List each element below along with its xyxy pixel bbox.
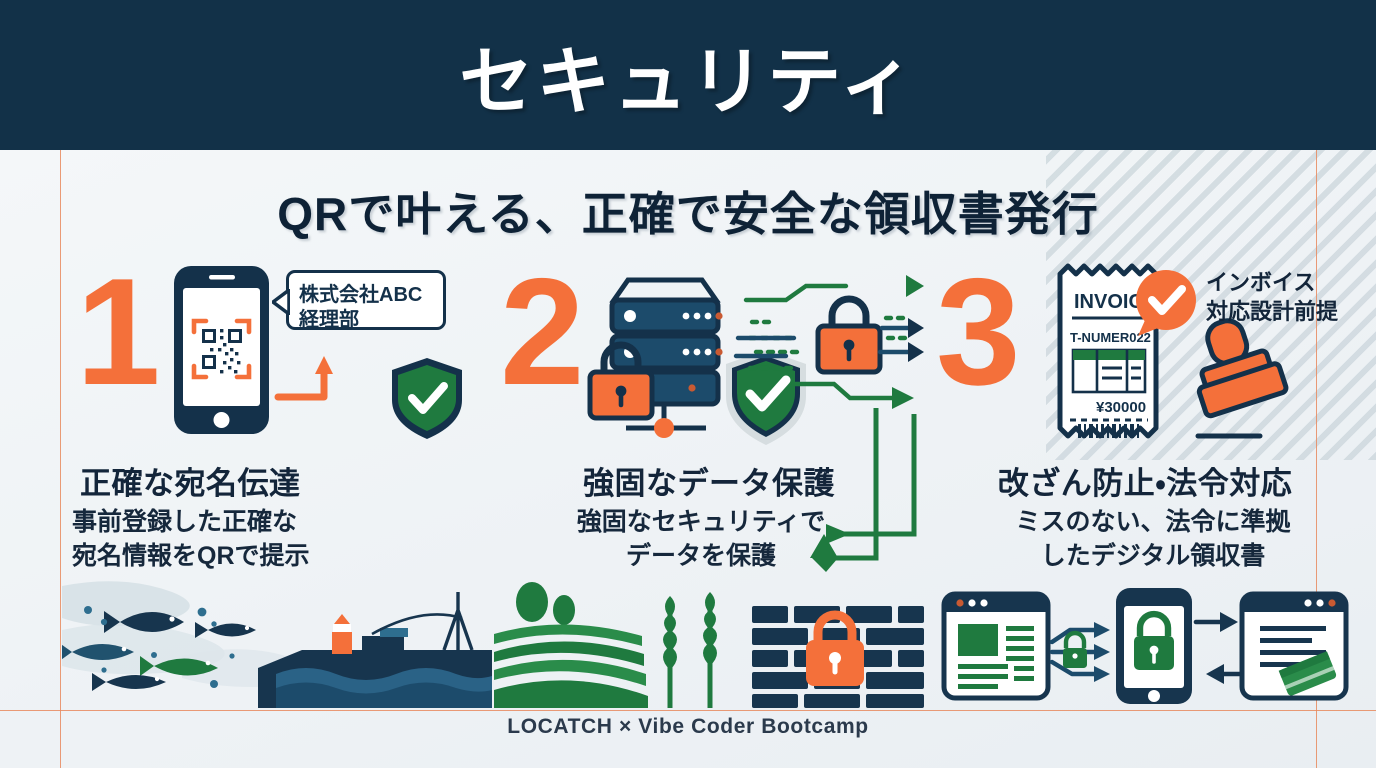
invoice-badge-line-2: 対応設計前提 <box>1206 297 1366 326</box>
step-heading-1: 正確な宛名伝達 <box>80 458 510 503</box>
invoice-badge-label: インボイス 対応設計前提 <box>1206 268 1366 326</box>
header-banner: セキュリティ <box>0 0 1376 150</box>
step-column-3: 3 INVOICE T-NUMER022 ¥30000 <box>930 260 1360 710</box>
body-area: QRで叶える、正確で安全な領収書発行 1 <box>0 150 1376 768</box>
farm-brickwall-scene <box>494 578 924 708</box>
green-routing-pipe <box>764 408 944 598</box>
callout-tail-icon <box>272 289 290 315</box>
invoice-badge-line-1: インボイス <box>1206 268 1366 297</box>
step-body-1: 事前登録した正確な 宛名情報をQRで提示 <box>72 505 502 573</box>
step-body-3-line-1: ミスのない、法令に準拠 <box>938 505 1368 539</box>
step-column-2: 2 <box>494 260 924 710</box>
callout-bubble: 株式会社ABC 経理部 <box>286 270 446 330</box>
footer-text: LOCATCH × Vibe Coder Bootcamp <box>0 715 1376 739</box>
subtitle: QRで叶える、正確で安全な領収書発行 <box>0 178 1376 244</box>
infographic-slide: セキュリティ QRで叶える、正確で安全な領収書発行 1 <box>0 0 1376 768</box>
guide-line-bottom <box>0 710 1376 711</box>
step-body-3-line-2: したデジタル領収書 <box>938 539 1368 573</box>
step-body-1-line-2: 宛名情報をQRで提示 <box>72 539 502 573</box>
callout-line-2: 経理部 <box>299 303 359 332</box>
sea-fish-lighthouse-scene <box>62 578 492 708</box>
receipt-amount-text: ¥30000 <box>1096 399 1146 416</box>
receipt-number-text: T-NUMER022 <box>1070 330 1151 345</box>
digital-document-flow-scene <box>930 578 1360 708</box>
step-heading-3: 改ざん防止・法令対応 <box>930 458 1360 503</box>
step-body-3: ミスのない、法令に準拠 したデジタル領収書 <box>938 505 1368 573</box>
page-title: セキュリティ <box>459 22 917 129</box>
step-body-1-line-1: 事前登録した正確な <box>72 505 502 539</box>
step-column-1: 1 <box>62 260 492 710</box>
